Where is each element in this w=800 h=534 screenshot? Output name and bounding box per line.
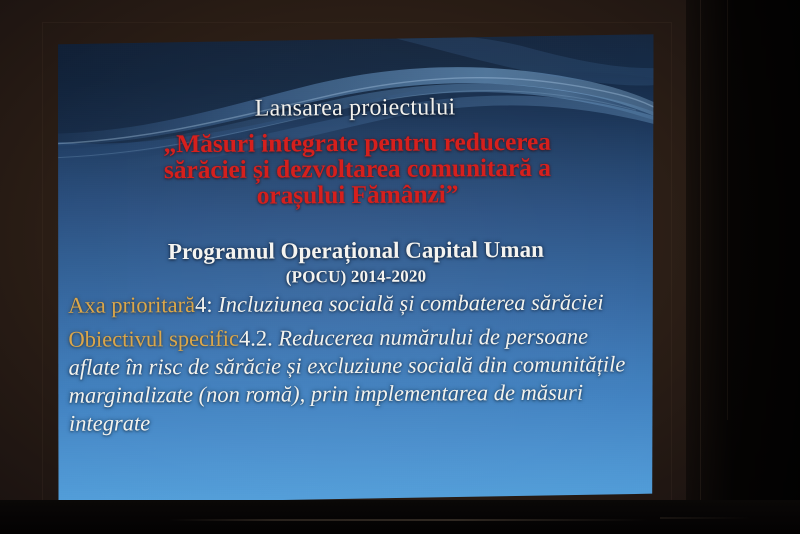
programme-acronym-period: (POCU) 2014-2020 [57,266,655,287]
priority-axis-text: Incluziunea socială și combaterea sărăci… [218,289,604,316]
slide-text-layer: Lansarea proiectului „Măsuri integrate p… [56,34,657,504]
floor-edge-highlight [168,519,648,521]
specific-objective-paragraph: Obiectivul specific4.2. Reducerea număru… [68,322,636,437]
specific-objective-label: Obiectivul specific [68,326,239,352]
wall-seam-line-secondary [727,0,728,420]
priority-axis-number: 4: [195,292,213,317]
slide-title-red: „Măsuri integrate pentru reducerea sărăc… [74,128,640,209]
priority-axis-paragraph: Axa prioritară4: Incluziunea socială și … [68,288,635,319]
specific-objective-number: 4.2. [239,325,273,350]
wall-seam-line [700,0,701,500]
slide-body-block: Axa prioritară4: Incluziunea socială și … [68,288,636,437]
projected-slide: Lansarea proiectului „Măsuri integrate p… [56,34,657,504]
slide-canvas: Lansarea proiectului „Măsuri integrate p… [56,34,657,504]
floor-edge-highlight-right [660,517,750,519]
slide-header-lansarea: Lansarea proiectului [56,94,654,122]
conference-room-scene: Lansarea proiectului „Măsuri integrate p… [0,0,800,534]
title-line-3: orașului Fămânzi” [74,180,640,209]
priority-axis-label: Axa prioritară [68,292,195,318]
programme-name: Programul Operațional Capital Uman [57,237,655,264]
wall-right-dark-band [686,0,800,534]
